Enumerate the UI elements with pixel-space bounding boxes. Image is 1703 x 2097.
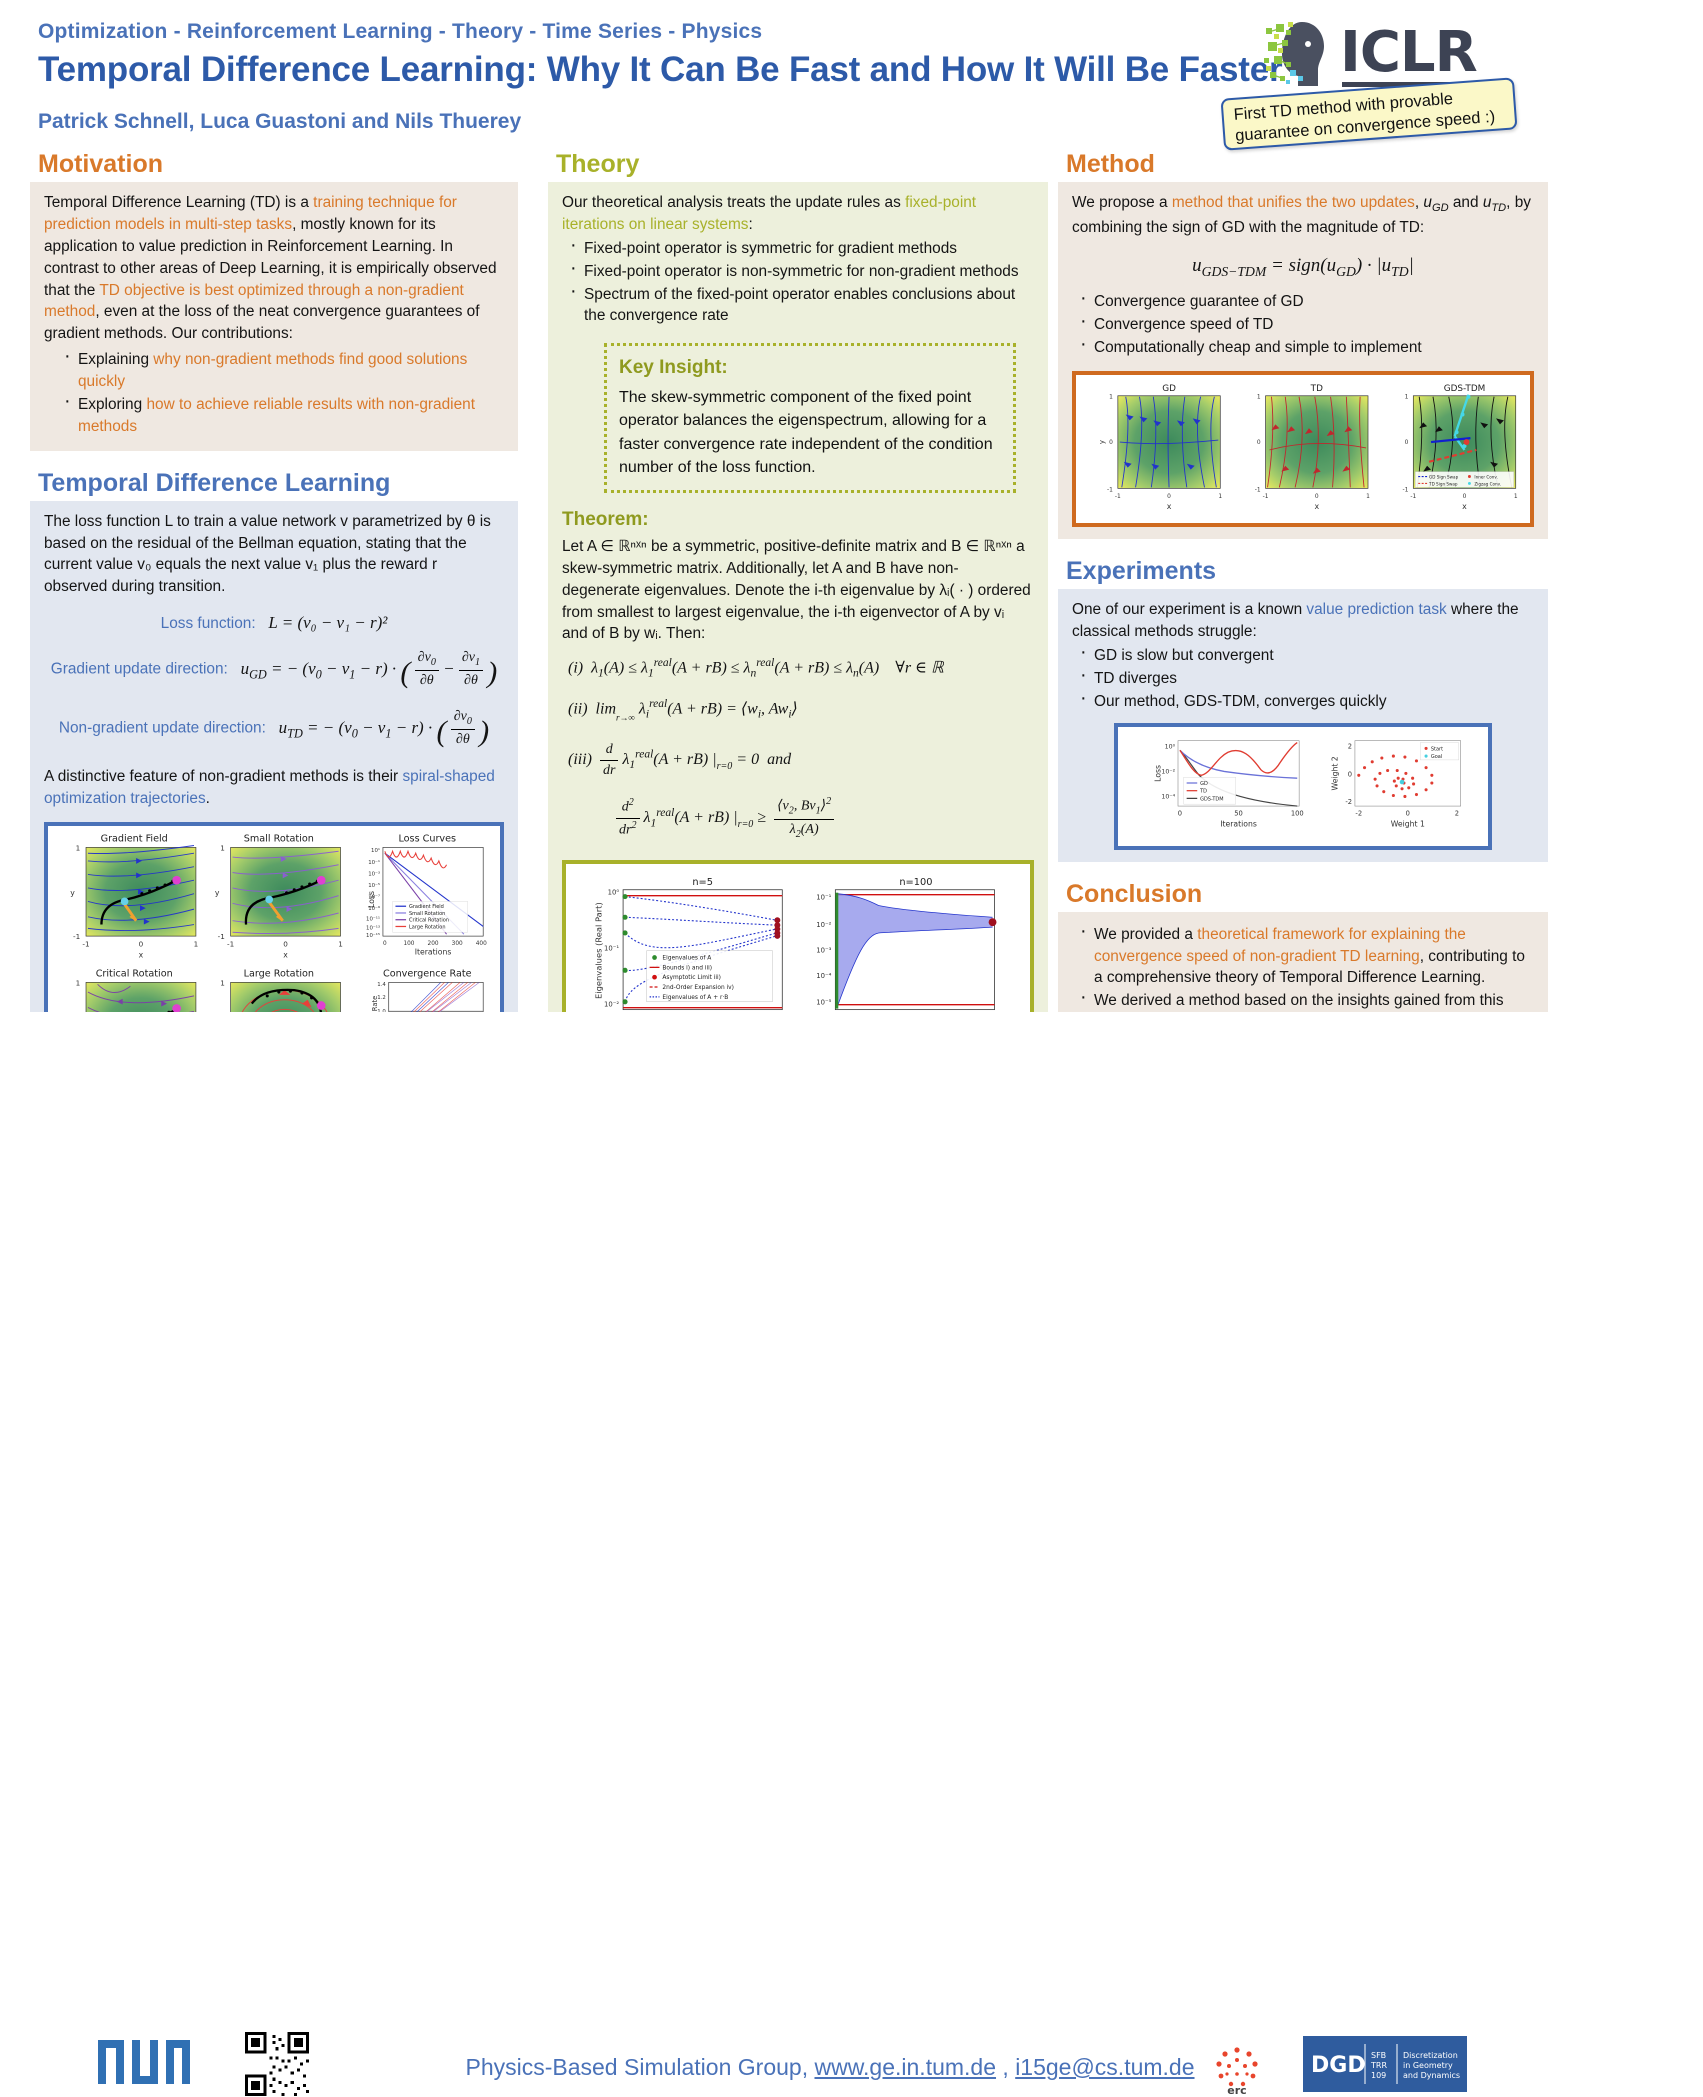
- svg-text:TD: TD: [1199, 788, 1207, 794]
- svg-text:Critical Rotation: Critical Rotation: [96, 969, 173, 980]
- svg-text:Iterations: Iterations: [1220, 819, 1257, 828]
- panel-exp-weights: 20-2 Weight 2 -202 Weight 1 Start Goal: [1331, 740, 1461, 828]
- list-item: Explaining why non-gradient methods find…: [64, 349, 504, 393]
- key-insight-box: Key Insight: The skew-symmetric componen…: [604, 343, 1016, 493]
- svg-text:Loss: Loss: [367, 891, 376, 908]
- svg-text:10⁻³: 10⁻³: [816, 946, 831, 954]
- svg-text:-2: -2: [1355, 809, 1362, 817]
- motivation-paragraph: Temporal Difference Learning (TD) is a t…: [44, 192, 504, 345]
- svg-text:Eigenvalues of A + r·B: Eigenvalues of A + r·B: [662, 995, 728, 1001]
- exp-weights-legend: Start Goal: [1420, 742, 1458, 759]
- equation-loss-body: L = (v₀ − v₁ − r)²: [268, 613, 387, 632]
- svg-text:10⁻³: 10⁻³: [368, 870, 380, 877]
- svg-text:-1: -1: [1107, 487, 1113, 493]
- section-theory: Theory Our theoretical analysis treats t…: [548, 150, 1048, 1079]
- svg-text:-1: -1: [1410, 494, 1416, 500]
- svg-text:GD: GD: [1162, 383, 1176, 393]
- exp-p-hl: value prediction task: [1306, 601, 1446, 618]
- theory-p-b: :: [748, 216, 752, 233]
- panel-method-gd: GD: [1098, 383, 1222, 510]
- section-heading-motivation: Motivation: [30, 150, 518, 182]
- svg-text:1.4: 1.4: [377, 982, 386, 988]
- footer-group-label: Physics-Based Simulation Group,: [465, 2054, 808, 2080]
- keyword-line: Optimization - Reinforcement Learning - …: [38, 20, 762, 44]
- footer-website-link[interactable]: www.ge.in.tum.de: [814, 2054, 996, 2080]
- tum-logo: [98, 2040, 190, 2084]
- panel-small-rotation: Small Rotation: [215, 834, 343, 960]
- tdl-paragraph-1: The loss function L to train a value net…: [44, 511, 504, 599]
- svg-text:Gradient Field: Gradient Field: [409, 904, 444, 910]
- svg-text:Weight 1: Weight 1: [1391, 819, 1425, 828]
- tdl-paragraph-2: A distinctive feature of non-gradient me…: [44, 766, 504, 810]
- list-item: Convergence speed of TD: [1080, 314, 1534, 336]
- panel-gradient-field: Gradient Field: [70, 834, 198, 960]
- svg-text:10⁻¹: 10⁻¹: [368, 859, 380, 866]
- method-figure-svg: GD: [1082, 381, 1524, 511]
- experiments-paragraph: One of our experiment is a known value p…: [1072, 599, 1534, 643]
- section-heading-tdl: Temporal Difference Learning: [30, 469, 518, 501]
- svg-text:Eigenvalues of A: Eigenvalues of A: [662, 955, 711, 961]
- svg-text:0: 0: [1348, 770, 1352, 778]
- iclr-head-icon: [1262, 18, 1338, 90]
- svg-text:10⁻⁴: 10⁻⁴: [816, 972, 831, 980]
- svg-text:0: 0: [1405, 440, 1409, 446]
- list-item: Spectrum of the fixed-point operator ena…: [570, 284, 1034, 328]
- theory-bullets: Fixed-point operator is symmetric for gr…: [562, 238, 1034, 328]
- motivation-bullets: Explaining why non-gradient methods find…: [44, 349, 504, 438]
- svg-text:-1: -1: [1403, 487, 1409, 493]
- list-item: Convergence guarantee of GD: [1080, 291, 1534, 313]
- svg-text:0: 0: [383, 941, 387, 947]
- column-right: Method We propose a method that unifies …: [1058, 150, 1548, 1114]
- panel-exp-loss: 10⁰10⁻²10⁻⁴ Loss 050100 Iterations GD TD: [1154, 740, 1304, 828]
- svg-text:2: 2: [1348, 742, 1352, 750]
- svg-text:10⁻¹: 10⁻¹: [816, 893, 831, 901]
- dgd-sfb: SFB: [1371, 2051, 1386, 2060]
- svg-text:x: x: [1167, 502, 1172, 511]
- method-p-a: We propose a: [1072, 194, 1172, 211]
- footer-contact: Physics-Based Simulation Group, www.ge.i…: [430, 2054, 1230, 2081]
- svg-text:-1: -1: [73, 932, 80, 941]
- method-bullets: Convergence guarantee of GD Convergence …: [1072, 291, 1534, 359]
- svg-text:Bounds i) and iii): Bounds i) and iii): [662, 965, 712, 971]
- equation-gd-label: Gradient update direction:: [51, 661, 228, 678]
- list-item: Fixed-point operator is symmetric for gr…: [570, 238, 1034, 260]
- svg-text:10⁻⁵: 10⁻⁵: [816, 999, 831, 1007]
- tdl-p2-b: .: [206, 790, 210, 807]
- motivation-body: Temporal Difference Learning (TD) is a t…: [30, 182, 518, 451]
- svg-text:50: 50: [1234, 809, 1243, 817]
- svg-text:0: 0: [283, 940, 288, 949]
- tdl-p2-a: A distinctive feature of non-gradient me…: [44, 768, 402, 785]
- dgd-trr: TRR: [1370, 2061, 1387, 2070]
- theorem-body: Let A ∈ ℝⁿˣⁿ be a symmetric, positive-de…: [562, 536, 1034, 645]
- svg-text:1: 1: [194, 940, 199, 949]
- svg-text:0: 0: [1315, 494, 1319, 500]
- theorem-item-i: (i) λ1(A) ≤ λ1real(A + rB) ≤ λnreal(A + …: [568, 655, 1034, 682]
- svg-text:10⁰: 10⁰: [1165, 743, 1176, 750]
- svg-text:1: 1: [76, 843, 81, 852]
- svg-text:Eigenvalues (Real Part): Eigenvalues (Real Part): [593, 902, 603, 999]
- svg-text:Large Rotation: Large Rotation: [409, 924, 446, 930]
- svg-text:-1: -1: [1115, 494, 1121, 500]
- svg-text:Gradient Field: Gradient Field: [101, 834, 168, 845]
- theorem-item-iv: d2 dr2 λ1real(A + rB) |r=0 ≥ ⟨v2, Bv1⟩2 …: [616, 795, 1034, 842]
- svg-text:400: 400: [476, 941, 487, 947]
- experiments-body: One of our experiment is a known value p…: [1058, 589, 1548, 861]
- svg-text:1: 1: [220, 978, 225, 987]
- mot-text-c: , even at the loss of the neat convergen…: [44, 303, 480, 342]
- svg-text:y: y: [1098, 440, 1106, 444]
- svg-text:n=100: n=100: [899, 877, 932, 888]
- section-heading-conclusion: Conclusion: [1058, 880, 1548, 912]
- key-insight-title: Key Insight:: [619, 355, 1001, 382]
- theorem-item-ii: (ii) limr→∞ λireal(A + rB) = ⟨wi, Awi⟩: [568, 696, 1034, 724]
- svg-text:0: 0: [1463, 494, 1467, 500]
- experiments-bullets: GD is slow but convergent TD diverges Ou…: [1072, 645, 1534, 713]
- svg-text:10⁻¹⁵: 10⁻¹⁵: [366, 932, 380, 939]
- svg-text:100: 100: [403, 941, 414, 947]
- theory-p-a: Our theoretical analysis treats the upda…: [562, 194, 905, 211]
- svg-text:Loss: Loss: [1154, 765, 1163, 782]
- svg-text:1: 1: [1257, 394, 1261, 400]
- svg-text:GD Sign Swap: GD Sign Swap: [1429, 474, 1459, 479]
- theory-paragraph: Our theoretical analysis treats the upda…: [562, 192, 1034, 236]
- erc-wordmark: erc: [1227, 2084, 1246, 2096]
- svg-text:0: 0: [139, 940, 144, 949]
- panel-method-gdstdm: GDS-TDM: [1403, 383, 1518, 510]
- svg-text:1: 1: [338, 940, 343, 949]
- column-middle: Theory Our theoretical analysis treats t…: [548, 150, 1048, 1079]
- section-heading-experiments: Experiments: [1058, 557, 1548, 589]
- section-method: Method We propose a method that unifies …: [1058, 150, 1548, 539]
- svg-text:10⁻²: 10⁻²: [604, 1001, 619, 1009]
- svg-text:Weight 2: Weight 2: [1331, 756, 1340, 790]
- section-heading-method: Method: [1058, 150, 1548, 182]
- svg-text:-2: -2: [1345, 798, 1352, 806]
- qr-code[interactable]: [245, 2032, 309, 2096]
- section-heading-theory: Theory: [548, 150, 1048, 182]
- list-item: Fixed-point operator is non-symmetric fo…: [570, 261, 1034, 283]
- dgd-wordmark: DGD: [1311, 2053, 1366, 2078]
- equation-gdstdm: uGDS−TDM = sign(uGD) · |uTD|: [1072, 253, 1534, 281]
- mot-text-a: Temporal Difference Learning (TD) is a: [44, 194, 313, 211]
- equation-loss: Loss function: L = (v₀ − v₁ − r)²: [44, 611, 504, 635]
- list-item: Computationally cheap and simple to impl…: [1080, 337, 1534, 359]
- svg-text:10⁻²: 10⁻²: [1161, 768, 1175, 775]
- dgd-109: 109: [1371, 2071, 1386, 2080]
- svg-text:-1: -1: [227, 940, 234, 949]
- svg-text:1: 1: [1109, 394, 1113, 400]
- svg-text:0: 0: [1167, 494, 1171, 500]
- footer-email-link[interactable]: i15ge@cs.tum.de: [1015, 2054, 1194, 2080]
- svg-text:10⁻⁴: 10⁻⁴: [1161, 793, 1175, 800]
- equation-td-body: uTD = − (v0 − v1 − r) · ( ∂v0 ∂θ ): [279, 718, 490, 737]
- poster-header: Optimization - Reinforcement Learning - …: [0, 0, 1703, 150]
- svg-text:1: 1: [1514, 494, 1518, 500]
- key-insight-body: The skew-symmetric component of the fixe…: [619, 386, 1001, 479]
- list-item: Our method, GDS-TDM, converges quickly: [1080, 691, 1534, 713]
- svg-text:1: 1: [76, 978, 81, 987]
- poster-footer: Physics-Based Simulation Group, www.ge.i…: [0, 1012, 1703, 1192]
- panel-loss-curves: Loss Curves 10¹10⁻¹10⁻³ 10⁻⁵10⁻⁷10⁻⁹ 10⁻…: [366, 834, 487, 957]
- svg-text:Small Rotation: Small Rotation: [244, 834, 314, 845]
- svg-text:y: y: [70, 889, 75, 898]
- svg-text:Iterations: Iterations: [415, 947, 452, 956]
- theorem-title: Theorem:: [562, 507, 1034, 534]
- svg-text:Asymptotic Limit iii): Asymptotic Limit iii): [662, 975, 721, 981]
- svg-text:100: 100: [1291, 809, 1304, 817]
- mot-b0-plain: Explaining: [78, 351, 153, 368]
- svg-text:TD: TD: [1310, 383, 1323, 393]
- author-list: Patrick Schnell, Luca Guastoni and Nils …: [38, 110, 521, 134]
- svg-text:10⁻²: 10⁻²: [816, 921, 831, 929]
- svg-text:-1: -1: [1263, 494, 1269, 500]
- exp-p-a: One of our experiment is a known: [1072, 601, 1306, 618]
- svg-text:Inner Conv.: Inner Conv.: [1474, 474, 1497, 479]
- eigen-legend: Eigenvalues of A Bounds i) and iii) Asym…: [647, 951, 773, 1002]
- svg-text:x: x: [1462, 502, 1467, 511]
- svg-text:x: x: [139, 950, 144, 959]
- svg-text:n=5: n=5: [692, 877, 713, 888]
- list-item: Exploring how to achieve reliable result…: [64, 394, 504, 438]
- svg-text:2nd-Order Expansion iv): 2nd-Order Expansion iv): [662, 985, 734, 991]
- svg-text:10⁰: 10⁰: [608, 889, 620, 897]
- erc-logo: erc: [1205, 2036, 1269, 2096]
- svg-text:GDS-TDM: GDS-TDM: [1444, 383, 1486, 393]
- svg-text:10⁻¹³: 10⁻¹³: [366, 924, 380, 931]
- svg-text:TD Sign Swap: TD Sign Swap: [1428, 481, 1458, 486]
- loss-curves-legend: Gradient Field Small Rotation Critical R…: [393, 901, 468, 932]
- svg-text:Goal: Goal: [1431, 754, 1442, 760]
- svg-text:Zigzag Conv.: Zigzag Conv.: [1474, 481, 1501, 486]
- svg-text:1: 1: [1405, 394, 1409, 400]
- theorem-item-iii: (iii) d dr λ1real(A + rB) |r=0 = 0 and: [568, 740, 1034, 781]
- method-paragraph: We propose a method that unifies the two…: [1072, 192, 1534, 239]
- panel-method-td: TD: [1255, 383, 1370, 510]
- dgd-logo-svg: DGD SFB TRR 109 Discretization in Geomet…: [1303, 2036, 1467, 2092]
- svg-text:Start: Start: [1431, 746, 1443, 752]
- method-p-hl: method that unifies the two updates: [1172, 194, 1415, 211]
- gdstdm-legend: GD Sign Swap TD Sign Swap Inner Conv. Zi…: [1415, 471, 1513, 487]
- column-left: Motivation Temporal Difference Learning …: [30, 150, 518, 1129]
- list-item: TD diverges: [1080, 668, 1534, 690]
- equation-gd: Gradient update direction: uGD = − (v0 −…: [44, 648, 504, 694]
- experiments-figure-svg: 10⁰10⁻²10⁻⁴ Loss 050100 Iterations GD TD: [1124, 733, 1482, 833]
- dgd-logo: DGD SFB TRR 109 Discretization in Geomet…: [1303, 2036, 1467, 2092]
- svg-text:10⁻¹¹: 10⁻¹¹: [366, 916, 380, 923]
- figure-experiments: 10⁰10⁻²10⁻⁴ Loss 050100 Iterations GD TD: [1114, 723, 1492, 850]
- page-title: Temporal Difference Learning: Why It Can…: [38, 50, 1282, 90]
- svg-text:0: 0: [1178, 809, 1182, 817]
- equation-gd-body: uGD = − (v0 − v1 − r) · ( ∂v0 ∂θ − ∂v1 ∂…: [241, 659, 498, 678]
- svg-text:0: 0: [1109, 440, 1113, 446]
- poster-root: Optimization - Reinforcement Learning - …: [0, 0, 1703, 1192]
- svg-text:x: x: [1314, 502, 1319, 511]
- section-experiments: Experiments One of our experiment is a k…: [1058, 557, 1548, 861]
- conc-b0-a: We provided a: [1094, 926, 1197, 943]
- svg-text:1: 1: [220, 843, 225, 852]
- equation-td-label: Non-gradient update direction:: [59, 720, 266, 737]
- svg-text:Critical Rotation: Critical Rotation: [409, 918, 449, 924]
- footer-separator: ,: [1002, 2054, 1008, 2080]
- figure-method-streamplots: GD: [1072, 371, 1534, 528]
- svg-text:10⁻¹: 10⁻¹: [604, 945, 619, 953]
- svg-text:2: 2: [1455, 809, 1459, 817]
- svg-text:10⁻⁵: 10⁻⁵: [368, 882, 380, 889]
- svg-text:y: y: [215, 889, 220, 898]
- svg-text:Large Rotation: Large Rotation: [244, 969, 314, 980]
- svg-text:10¹: 10¹: [371, 847, 380, 854]
- svg-text:-1: -1: [218, 932, 225, 941]
- svg-text:1: 1: [1366, 494, 1370, 500]
- svg-text:GD: GD: [1200, 781, 1208, 787]
- svg-text:-1: -1: [82, 940, 89, 949]
- equation-td: Non-gradient update direction: uTD = − (…: [44, 707, 504, 753]
- mot-b1-plain: Exploring: [78, 396, 146, 413]
- svg-text:GDS-TDM: GDS-TDM: [1200, 796, 1223, 802]
- svg-text:Small Rotation: Small Rotation: [409, 911, 445, 917]
- equation-loss-label: Loss function:: [161, 615, 256, 632]
- iclr-wordmark: ICLR: [1340, 20, 1477, 85]
- svg-text:Convergence Rate: Convergence Rate: [383, 969, 472, 980]
- list-item: We provided a theoretical framework for …: [1080, 924, 1534, 990]
- dgd-geom: in Geometry: [1403, 2061, 1453, 2070]
- dgd-disc: Discretization: [1403, 2051, 1458, 2060]
- svg-text:1: 1: [1218, 494, 1222, 500]
- svg-text:0: 0: [1406, 809, 1410, 817]
- svg-text:0: 0: [1257, 440, 1261, 446]
- dgd-dyn: and Dynamics: [1403, 2071, 1460, 2080]
- list-item: GD is slow but convergent: [1080, 645, 1534, 667]
- method-body: We propose a method that unifies the two…: [1058, 182, 1548, 539]
- exp-loss-legend: GD TD GDS-TDM: [1184, 777, 1236, 804]
- svg-text:200: 200: [428, 941, 439, 947]
- svg-text:-1: -1: [1255, 487, 1261, 493]
- svg-text:x: x: [283, 950, 288, 959]
- svg-text:Loss Curves: Loss Curves: [398, 834, 456, 845]
- section-motivation: Motivation Temporal Difference Learning …: [30, 150, 518, 451]
- theory-body: Our theoretical analysis treats the upda…: [548, 182, 1048, 1079]
- svg-text:300: 300: [452, 941, 463, 947]
